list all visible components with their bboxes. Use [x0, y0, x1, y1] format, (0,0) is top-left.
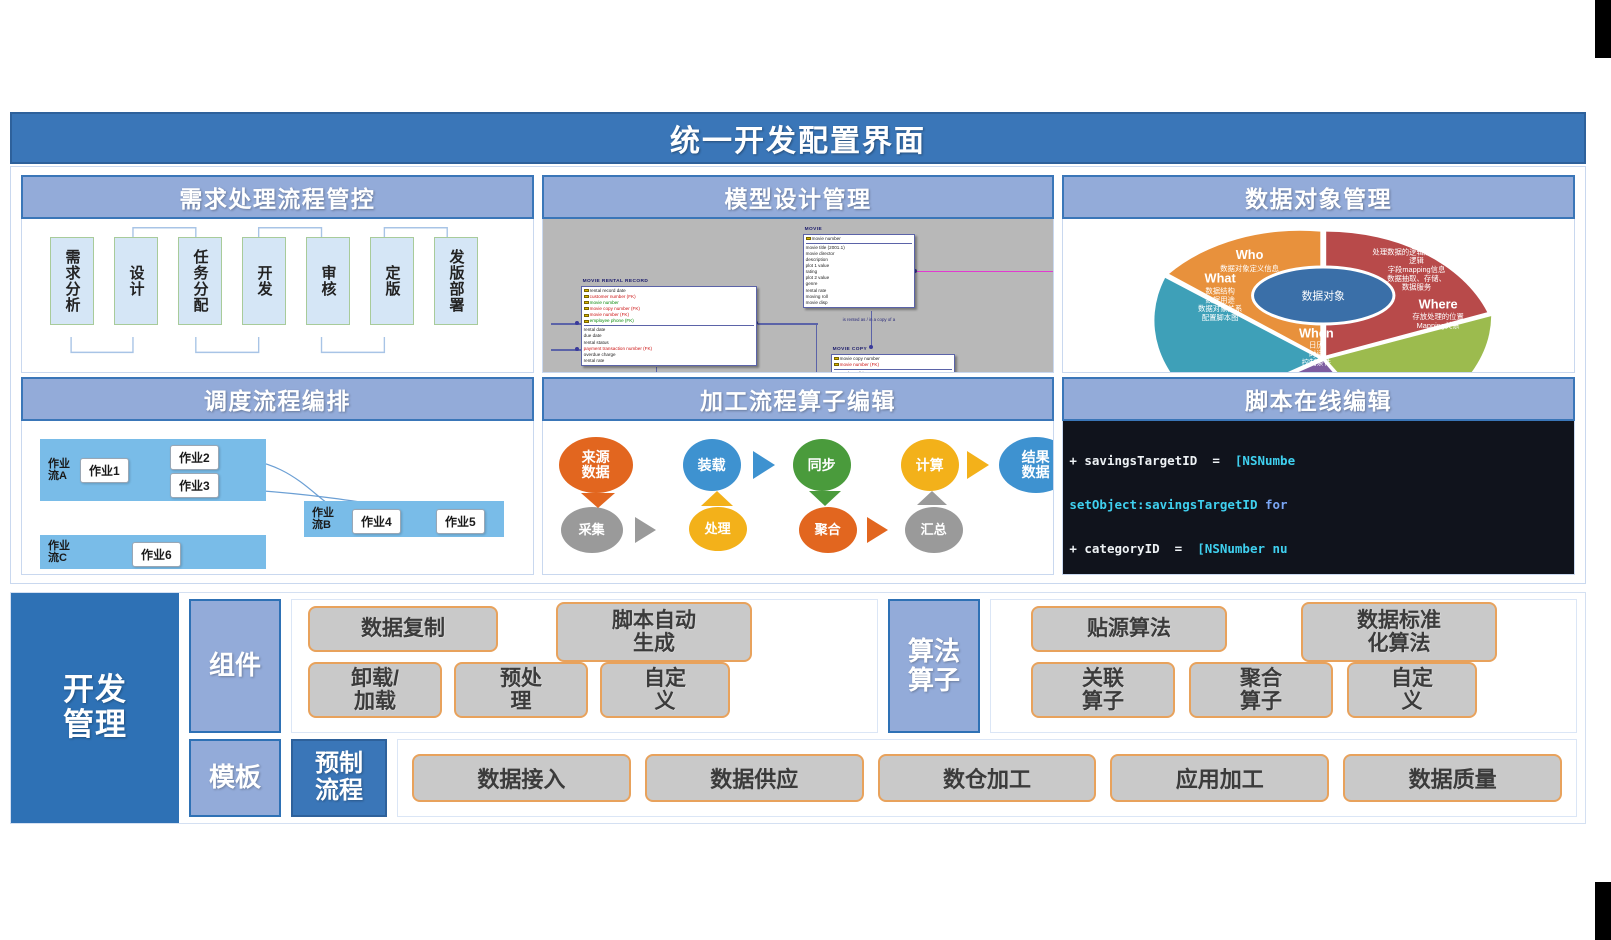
panel-scheduling[interactable]: 调度流程编排 [17, 375, 538, 577]
job-node[interactable]: 作业2 [170, 445, 219, 470]
operator-node-aggregate[interactable]: 聚合 [799, 507, 857, 553]
flow-step[interactable]: 任务分配 [178, 237, 222, 325]
key-icon [584, 320, 589, 323]
key-icon [834, 363, 839, 366]
pie-sub-how-3: 数据抽取、存储、 [1387, 274, 1446, 283]
panel-operator-editing-title: 加工流程算子编辑 [700, 382, 896, 416]
pie-sub-when-2: 控制条件 [1302, 358, 1331, 367]
flow-step[interactable]: 需求分析 [50, 237, 94, 325]
er-field: movie disp [806, 300, 912, 306]
chip-script-auto-generation[interactable]: 脚本自动 生成 [556, 602, 752, 662]
key-icon [584, 301, 589, 304]
job-node[interactable]: 作业1 [80, 458, 129, 483]
er-entity-table[interactable]: movie number movie title (2001.1) movie … [803, 234, 915, 308]
pie-label-how: How [1403, 231, 1430, 246]
er-connector-dot [869, 345, 873, 349]
job-node[interactable]: 作业4 [352, 509, 401, 534]
er-divider [584, 325, 754, 326]
job-node[interactable]: 作业3 [170, 473, 219, 498]
algorithm-group: 算法 算子 贴源算法 数据标准 化算法 关联 算子 聚合 算子 自定 义 [888, 599, 1577, 733]
chip-data-quality[interactable]: 数据质量 [1343, 754, 1562, 802]
page-title: 统一开发配置界面 [670, 116, 926, 160]
data-object-pie-canvas: 数据对象 Who 数据对象定义信息 How 处理数据的逻辑层面的业务 逻辑 字段… [1063, 219, 1574, 372]
pie-sub-when-1: 时间 [1309, 349, 1324, 358]
arrow-right-yellow-icon [967, 451, 989, 479]
panel-model-design-title: 模型设计管理 [724, 180, 871, 214]
flow-step[interactable]: 发版部署 [434, 237, 478, 325]
panel-requirement-process-header: 需求处理流程管控 [21, 175, 534, 219]
er-divider [806, 243, 912, 244]
panel-requirement-process[interactable]: 需求处理流程管控 [17, 173, 538, 375]
key-icon [834, 357, 839, 360]
pie-sub-how-2: 字段mapping信息 [1388, 265, 1446, 274]
panel-script-editor-header: 脚本在线编辑 [1062, 377, 1575, 421]
key-icon [806, 237, 811, 240]
category-templates[interactable]: 模板 [189, 739, 281, 817]
code-editor-area[interactable]: + savingsTargetID = [NSNumbe setObject:s… [1063, 421, 1574, 574]
arrow-up-gray-icon [917, 491, 947, 505]
panel-data-object-header: 数据对象管理 [1062, 175, 1575, 219]
code-line: + categoryID = [NSNumber nu [1069, 542, 1574, 557]
panel-requirement-process-title: 需求处理流程管控 [179, 180, 375, 214]
dev-management-label: 开发 管理 [11, 593, 179, 823]
er-divider [834, 369, 952, 370]
panel-data-object[interactable]: 数据对象管理 [1058, 173, 1579, 375]
er-entity-title: MOVIE RENTAL RECORD [583, 279, 649, 284]
panel-operator-editing-header: 加工流程算子编辑 [542, 377, 1055, 421]
er-field: movie number (FK) [834, 362, 952, 368]
category-preset-flow[interactable]: 预制 流程 [291, 739, 387, 817]
components-group: 组件 数据复制 脚本自动 生成 卸载/ 加载 预处 理 自定 义 [189, 599, 878, 733]
chip-source-aligned-algorithm[interactable]: 贴源算法 [1031, 606, 1227, 652]
key-icon [584, 289, 589, 292]
pie-hub-label: 数据对象 [1302, 288, 1345, 302]
panel-data-object-body: 数据对象 Who 数据对象定义信息 How 处理数据的逻辑层面的业务 逻辑 字段… [1062, 219, 1575, 373]
er-relationship-line-magenta [916, 271, 1055, 272]
data-object-pie-chart[interactable]: 数据对象 Who 数据对象定义信息 How 处理数据的逻辑层面的业务 逻辑 字段… [1063, 219, 1574, 372]
er-relationship-line [656, 367, 658, 373]
operator-node-compute[interactable]: 计算 [901, 439, 959, 491]
er-relationship-note: is rented as / in a copy of a [843, 317, 895, 322]
er-field: movie number [806, 236, 912, 242]
pie-sub-when-0: 日历 [1309, 341, 1324, 350]
arrow-right-gray-icon [635, 517, 656, 543]
category-algorithm-operators[interactable]: 算法 算子 [888, 599, 980, 733]
arrow-up-yellow-icon [701, 491, 733, 506]
job-lane-c-label: 作业 流C [48, 540, 70, 564]
panel-operator-editing-body: 来源 数据 装载 同步 计算 结果 数据 采集 处理 聚合 汇总 [542, 421, 1055, 575]
pie-label-where: Where [1419, 296, 1458, 311]
job-lane-b-label: 作业 流B [312, 507, 334, 531]
operator-node-source-data[interactable]: 来源 数据 [559, 437, 633, 493]
key-icon [584, 314, 589, 317]
er-entity-table[interactable]: movie copy number movie number (FK) gene… [831, 354, 955, 373]
chip-data-replication[interactable]: 数据复制 [308, 606, 498, 652]
chip-unload-load[interactable]: 卸载/ 加载 [308, 662, 442, 718]
er-diagram-canvas[interactable]: MOVIE RENTAL RECORD rental record date c… [543, 219, 1054, 372]
job-lane-a[interactable]: 作业 流A [40, 439, 266, 501]
operator-node-collect[interactable]: 采集 [561, 507, 623, 553]
chip-aggregation-operator[interactable]: 聚合 算子 [1189, 662, 1333, 718]
pie-label-who: Who [1236, 247, 1264, 262]
chip-data-supply[interactable]: 数据供应 [645, 754, 864, 802]
chip-preprocess[interactable]: 预处 理 [454, 662, 588, 718]
dev-row-components: 组件 数据复制 脚本自动 生成 卸载/ 加载 预处 理 自定 义 算法 算子 贴… [189, 599, 1577, 733]
flow-step[interactable]: 审核 [306, 237, 350, 325]
operator-node-process[interactable]: 处理 [689, 507, 747, 551]
er-entity-title: MOVIE COPY [833, 347, 867, 352]
panel-data-object-title: 数据对象管理 [1245, 180, 1392, 214]
pie-sub-what-3: 配置脚本图 [1202, 313, 1239, 322]
chip-data-ingestion[interactable]: 数据接入 [412, 754, 631, 802]
pie-sub-how-4: 数据服务 [1402, 283, 1432, 292]
components-chip-area: 数据复制 脚本自动 生成 卸载/ 加载 预处 理 自定 义 [291, 599, 878, 733]
panel-scheduling-title: 调度流程编排 [204, 382, 351, 416]
panel-grid: 需求处理流程管控 [17, 173, 1579, 577]
requirement-step-list: 需求分析 设计 任务分配 开发 审核 定版 发版部署 [50, 237, 478, 325]
pie-sub-where-0: 存放处理的位置 [1413, 312, 1465, 321]
key-icon [584, 307, 589, 310]
chip-warehouse-processing[interactable]: 数仓加工 [878, 754, 1097, 802]
er-field: general condition [834, 371, 952, 373]
dev-management-content: 组件 数据复制 脚本自动 生成 卸载/ 加载 预处 理 自定 义 算法 算子 贴… [179, 593, 1585, 823]
operator-canvas: 来源 数据 装载 同步 计算 结果 数据 采集 处理 聚合 汇总 [543, 421, 1054, 574]
job-node[interactable]: 作业5 [436, 509, 485, 534]
chip-data-standardization-algorithm[interactable]: 数据标准 化算法 [1301, 602, 1497, 662]
algorithm-chip-area: 贴源算法 数据标准 化算法 关联 算子 聚合 算子 自定 义 [990, 599, 1577, 733]
panel-script-editor-title: 脚本在线编辑 [1245, 382, 1392, 416]
er-relationship-line [816, 323, 818, 373]
er-entity-table[interactable]: rental record date customer number (FK) … [581, 286, 757, 366]
pie-sub-what-0: 数据结构 [1206, 287, 1235, 296]
operator-node-load[interactable]: 装载 [683, 439, 741, 491]
arrow-right-blue-icon [753, 451, 775, 479]
panel-scheduling-header: 调度流程编排 [21, 377, 534, 421]
er-field: employee phone (FK) [584, 318, 754, 324]
panel-model-design-body: MOVIE RENTAL RECORD rental record date c… [542, 219, 1055, 373]
er-relationship-line [758, 323, 818, 325]
flow-step[interactable]: 设计 [114, 237, 158, 325]
key-icon [584, 295, 589, 298]
panel-operator-editing[interactable]: 加工流程算子编辑 来源 数据 装载 同步 计算 结果 数据 采集 处理 聚合 汇… [538, 375, 1059, 577]
category-components[interactable]: 组件 [189, 599, 281, 733]
dev-row-templates: 模板 预制 流程 数据接入 数据供应 数仓加工 应用加工 数据质量 [189, 739, 1577, 817]
pie-sub-how-1: 逻辑 [1410, 256, 1425, 265]
pie-label-what: What [1205, 271, 1237, 286]
edge-strip-bottom [1595, 882, 1611, 940]
pie-sub-where-1: Mapping关系 [1417, 321, 1460, 330]
panel-shell: 需求处理流程管控 [10, 166, 1586, 584]
operator-node-sync[interactable]: 同步 [793, 439, 851, 491]
panel-requirement-process-body: 需求分析 设计 任务分配 开发 审核 定版 发版部署 [21, 219, 534, 373]
job-node[interactable]: 作业6 [132, 542, 181, 567]
arrow-down-orange-icon [581, 493, 615, 508]
operator-node-result-data[interactable]: 结果 数据 [999, 437, 1055, 493]
code-line: setObject:savingsTargetID for [1069, 498, 1574, 513]
arrow-down-green-icon [809, 491, 841, 506]
flow-step[interactable]: 开发 [242, 237, 286, 325]
chip-application-processing[interactable]: 应用加工 [1110, 754, 1329, 802]
er-connector-dot [575, 347, 579, 351]
edge-strip-top [1595, 0, 1611, 58]
scheduling-canvas: 作业 流A 作业1 作业2 作业3 作业 流B 作业4 作业5 作业 流C [22, 421, 533, 574]
page-title-bar: 统一开发配置界面 [10, 112, 1586, 164]
pie-sub-what-2: 数据对象关系 [1198, 304, 1242, 313]
chip-association-operator[interactable]: 关联 算子 [1031, 662, 1175, 718]
slide-root: 统一开发配置界面 需求处理流程管控 [0, 0, 1611, 940]
preset-flow-chip-area: 数据接入 数据供应 数仓加工 应用加工 数据质量 [397, 739, 1577, 817]
panel-scheduling-body: 作业 流A 作业1 作业2 作业3 作业 流B 作业4 作业5 作业 流C [21, 421, 534, 575]
er-entity-title: MOVIE [805, 227, 822, 232]
requirement-flow-canvas: 需求分析 设计 任务分配 开发 审核 定版 发版部署 [22, 219, 533, 372]
dev-management-section: 开发 管理 组件 数据复制 脚本自动 生成 卸载/ 加载 预处 理 自定 义 算… [10, 592, 1586, 824]
operator-node-summary[interactable]: 汇总 [905, 507, 963, 553]
er-field: rental rate [584, 358, 754, 364]
panel-model-design[interactable]: 模型设计管理 [538, 173, 1059, 375]
pie-sub-how-0: 处理数据的逻辑层面的业务 [1373, 247, 1462, 256]
panel-script-editor[interactable]: 脚本在线编辑 + savingsTargetID = [NSNumbe setO… [1058, 375, 1579, 577]
pie-sub-what-1: 数据用途 [1206, 295, 1236, 304]
pie-label-when: When [1299, 326, 1334, 341]
code-line: + savingsTargetID = [NSNumbe [1069, 454, 1574, 469]
er-connector-dot [575, 321, 579, 325]
job-lane-a-label: 作业 流A [48, 458, 70, 482]
panel-script-editor-body: + savingsTargetID = [NSNumbe setObject:s… [1062, 421, 1575, 575]
chip-custom-operator[interactable]: 自定 义 [1347, 662, 1477, 718]
chip-custom-component[interactable]: 自定 义 [600, 662, 730, 718]
flow-step[interactable]: 定版 [370, 237, 414, 325]
arrow-right-orange-icon [867, 517, 888, 543]
panel-model-design-header: 模型设计管理 [542, 175, 1055, 219]
